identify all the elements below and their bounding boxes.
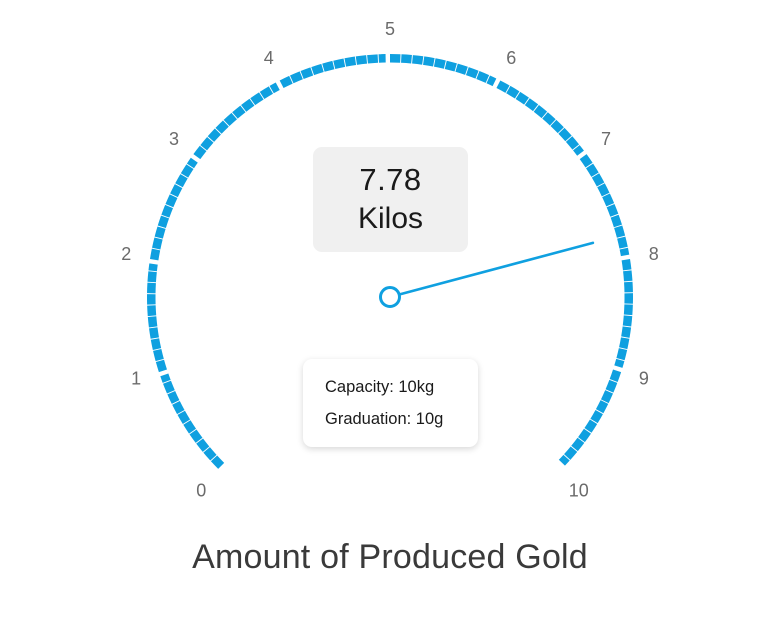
gauge-minor-tick	[455, 64, 467, 75]
gauge-minor-tick	[290, 71, 303, 83]
gauge-minor-tick	[166, 194, 178, 207]
gauge-tick-label-8: 8	[649, 244, 659, 264]
gauge-minor-tick	[623, 270, 632, 281]
gauge-minor-tick	[152, 237, 163, 249]
gauge-minor-tick	[619, 337, 629, 349]
gauge-scale-graphic: 012345678910	[0, 0, 780, 620]
gauge-minor-tick	[379, 54, 386, 63]
gauge-tick-label-1: 1	[131, 368, 141, 388]
gauge-minor-tick	[148, 263, 157, 271]
gauge-minor-tick	[280, 76, 293, 88]
gauge-minor-tick	[601, 390, 613, 403]
gauge-minor-tick	[390, 54, 401, 63]
gauge-minor-tick	[322, 61, 334, 72]
gauge-minor-tick	[614, 359, 624, 368]
gauge-minor-tick	[624, 304, 633, 315]
gauge-minor-tick	[167, 391, 179, 404]
gauge-minor-tick	[624, 282, 633, 293]
gauge-tick-label-5: 5	[385, 19, 395, 39]
gauge-needle	[381, 243, 593, 307]
gauge-tick-label-9: 9	[639, 368, 649, 388]
gauge-minor-tick	[163, 381, 175, 394]
gauge-minor-tick	[434, 58, 446, 68]
gauge-value-card: 7.78 Kilos	[313, 147, 468, 252]
gauge-minor-tick	[153, 349, 164, 361]
gauge-minor-tick	[611, 215, 622, 228]
gauge-minor-tick	[155, 226, 166, 238]
gauge-tick-label-0: 0	[196, 481, 206, 501]
gauge-minor-tick	[606, 380, 618, 393]
gauge-tick-label-4: 4	[264, 48, 274, 68]
gauge-minor-tick	[412, 55, 423, 65]
gauge-minor-tick	[466, 67, 479, 79]
gauge-minor-tick	[311, 64, 323, 75]
gauge-minor-tick	[607, 204, 619, 217]
gauge-minor-tick	[149, 327, 159, 339]
gauge-minor-tick	[147, 305, 156, 316]
gauge-minor-tick	[423, 56, 435, 66]
chart-title: Amount of Produced Gold	[0, 538, 780, 577]
gauge-minor-tick	[623, 315, 632, 326]
gauge-tick-label-6: 6	[506, 48, 516, 68]
gauge-tick-label-10: 10	[569, 481, 589, 501]
gauge-minor-tick	[161, 205, 173, 218]
gauge-minor-tick	[147, 271, 156, 282]
gauge-tick-label-7: 7	[601, 129, 611, 149]
gauge-minor-tick	[150, 249, 160, 261]
needle-hub-icon	[381, 288, 400, 307]
gauge-tick-label-2: 2	[121, 244, 131, 264]
gauge-minor-tick	[610, 369, 621, 382]
gauge-minor-tick	[333, 58, 345, 69]
gauge-minor-tick	[367, 54, 378, 63]
gauge-minor-tick	[622, 259, 632, 270]
gauge-minor-tick	[445, 61, 457, 72]
gauge-minor-tick	[624, 293, 633, 304]
gauge-minor-tick	[301, 67, 314, 79]
gauge-minor-tick	[356, 55, 367, 65]
gauge-value-number: 7.78	[359, 161, 421, 200]
gauge-value-unit: Kilos	[358, 200, 423, 238]
gauge-minor-tick	[401, 54, 412, 63]
gauge-minor-tick	[617, 237, 628, 249]
gauge-minor-tick	[476, 71, 489, 83]
gauge-minor-tick	[621, 326, 631, 337]
gauge-tick-label-3: 3	[169, 129, 179, 149]
info-graduation-line: Graduation: 10g	[325, 403, 443, 435]
gauge-minor-tick	[147, 294, 156, 305]
gauge-minor-tick	[344, 57, 356, 67]
gauge-minor-tick	[614, 226, 625, 238]
gauge-minor-tick	[620, 248, 630, 256]
info-capacity-line: Capacity: 10kg	[325, 371, 434, 403]
gauge-minor-tick	[158, 216, 169, 228]
gauge-minor-tick	[147, 283, 156, 294]
gauge-info-card: Capacity: 10kg Graduation: 10g	[303, 359, 478, 447]
gauge-chart: 012345678910 7.78 Kilos Capacity: 10kg G…	[0, 0, 780, 620]
gauge-minor-tick	[602, 194, 614, 207]
gauge-minor-tick	[151, 338, 161, 350]
gauge-minor-tick	[156, 360, 167, 372]
gauge-minor-tick	[616, 348, 627, 360]
gauge-minor-tick	[148, 316, 158, 327]
